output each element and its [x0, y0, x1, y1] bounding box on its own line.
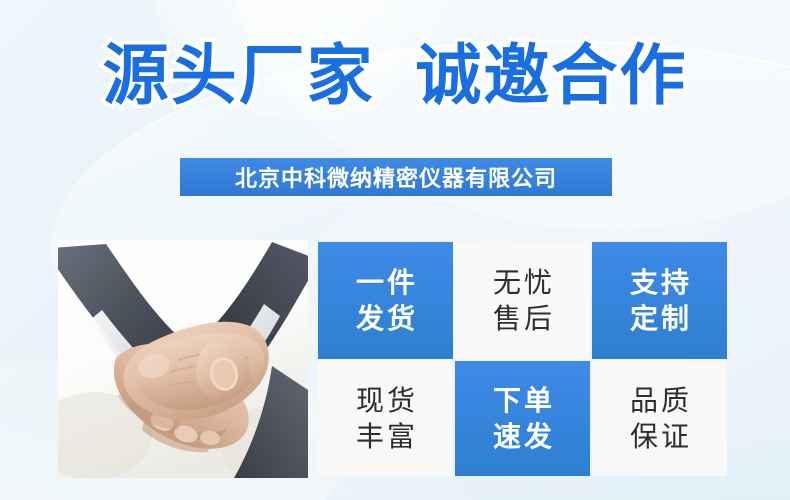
feature-line-2: 保证: [627, 419, 692, 455]
feature-line-1: 支持: [627, 265, 692, 301]
feature-line-1: 无忧: [490, 265, 555, 301]
feature-cell-quality-guarantee[interactable]: 品质 保证: [592, 361, 727, 476]
feature-cell-fast-dispatch[interactable]: 下单 速发: [455, 361, 590, 476]
handshake-illustration: [58, 240, 308, 478]
feature-line-2: 丰富: [353, 419, 418, 455]
feature-cell-supports-customization[interactable]: 支持 定制: [592, 242, 727, 359]
feature-line-1: 现货: [353, 383, 418, 419]
feature-line-1: 一件: [353, 265, 418, 301]
feature-cell-one-piece-shipping[interactable]: 一件 发货: [318, 242, 453, 359]
promo-banner: 源头厂家 诚邀合作 北京中科微纳精密仪器有限公司: [0, 0, 790, 500]
feature-line-1: 下单: [490, 383, 555, 419]
feature-line-2: 售后: [490, 301, 555, 337]
feature-line-2: 发货: [353, 301, 418, 337]
feature-line-1: 品质: [627, 383, 692, 419]
company-name-bar: 北京中科微纳精密仪器有限公司: [180, 158, 612, 196]
company-name-text: 北京中科微纳精密仪器有限公司: [235, 161, 557, 193]
feature-cell-ample-stock[interactable]: 现货 丰富: [318, 361, 453, 476]
handshake-photo: [58, 240, 308, 478]
feature-line-2: 速发: [490, 419, 555, 455]
feature-line-2: 定制: [627, 301, 692, 337]
feature-cell-worry-free-after-sales[interactable]: 无忧 售后: [455, 242, 590, 359]
headline-title: 源头厂家 诚邀合作: [0, 42, 790, 108]
feature-grid: 一件 发货 无忧 售后 支持 定制 现货 丰富 下单 速发 品质 保证: [318, 242, 729, 478]
